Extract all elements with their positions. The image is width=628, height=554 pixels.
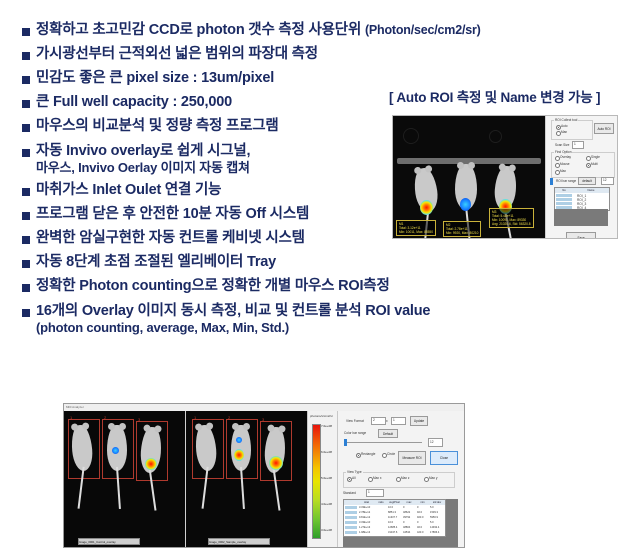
table-cell-min: 423.0 xyxy=(417,531,424,534)
bullet-text: 큰 Full well capacity : 250,000 xyxy=(36,94,232,111)
signal-blob xyxy=(420,200,433,215)
table-header-total: total xyxy=(358,500,376,505)
bullet-subtext: (photon counting, average, Max, Min, Std… xyxy=(36,320,430,335)
radio-view-maxz-label: Max z xyxy=(401,476,410,480)
table-row[interactable] xyxy=(345,511,357,514)
find-option-label: Find Option xyxy=(554,150,572,154)
bullet-square-icon xyxy=(22,100,30,108)
table-header-std: std dev xyxy=(429,500,445,505)
bullet-square-icon xyxy=(22,236,30,244)
table-cell-avg: 8851.3 xyxy=(388,511,396,514)
list-item: 정확하고 초고민감 CCD로 photon 갯수 측정 사용단위 (Photon… xyxy=(22,22,602,39)
table-row[interactable] xyxy=(556,194,572,197)
analysis-control-panel[interactable]: View Format 2 x 1 Update Color bar range… xyxy=(337,411,464,547)
table-cell-avg: 12685.4 xyxy=(388,526,397,529)
pane-label: Image_0001_Control_overlay xyxy=(79,540,116,545)
colorbar-gradient xyxy=(312,424,321,539)
table-cell-avg: 10.0 xyxy=(388,506,393,509)
table-cell-max: 44534 xyxy=(403,531,410,534)
roi-number: 1 xyxy=(70,415,72,420)
roi-number: 1 xyxy=(194,415,196,420)
table-cell-max: 0 xyxy=(403,506,404,509)
bullet-square-icon xyxy=(22,28,30,36)
bullet-subtext: 마우스, Invivo Oerlay 이미지 자동 캡쳐 xyxy=(36,160,250,175)
roi-collect-group-label: ROI Collect tool xyxy=(554,118,578,122)
table-cell-std: 5.0 xyxy=(430,506,434,509)
colorbar-range-label: Color bar range xyxy=(344,431,366,435)
table-cell-min: 0 xyxy=(417,521,418,524)
bullet-text: 가시광선부터 근적외선 넓은 범위의 파장대 측정 xyxy=(36,46,318,63)
table-cell-total: 3.33E+10 xyxy=(359,506,370,509)
bullet-square-icon xyxy=(22,149,30,157)
bullet-square-icon xyxy=(22,76,30,84)
table-cell-std: 17866.4 xyxy=(430,531,439,534)
bullet-text: 민감도 좋은 큰 pixel size : 13um/pixel xyxy=(36,70,274,87)
roi-image-canvas[interactable]: M1 Total: 3.12e+11 Min: 10011, Max: 8555… xyxy=(393,116,545,238)
image-pane[interactable]: 1 2 3 Image_0001_Control_overlay xyxy=(64,411,186,547)
chamber-mark xyxy=(403,128,419,144)
colorbar-tick: 5.0e+08 xyxy=(321,476,332,480)
radio-circle-label: Circle xyxy=(387,452,395,456)
window-title: MDI Analyzer xyxy=(64,404,464,411)
bullet-square-icon xyxy=(22,52,30,60)
radio-rectangle-label: Rectangle xyxy=(361,452,375,456)
table-cell-std: 1539.3 xyxy=(430,511,438,514)
table-cell-min: 923.0 xyxy=(417,516,424,519)
table-cell-std: 5956.9 xyxy=(430,516,438,519)
view-format-rows-value: 1 xyxy=(393,418,395,422)
roi-control-panel[interactable]: ROI Collect tool Auto Man Auto ROI Scan … xyxy=(545,116,617,238)
table-row[interactable] xyxy=(345,531,357,534)
table-header-no: No xyxy=(555,188,574,193)
table-cell-std: 5.0 xyxy=(430,521,434,524)
checkbox-max-label: Max xyxy=(560,169,566,173)
table-cell-avg: 11337.7 xyxy=(388,516,397,519)
view-format-label: View Format xyxy=(346,419,364,423)
scan-size-label: Scan Size xyxy=(555,143,569,147)
list-item: 정확한 Photon counting으로 정확한 개별 마우스 ROI측정 xyxy=(22,278,602,295)
colorbar-range-number-value: 12 xyxy=(430,440,434,444)
table-cell-avg: 31347.6 xyxy=(388,531,397,534)
roi-annotation: M1 Total: 3.12e+11 Min: 10011, Max: 8555… xyxy=(396,220,436,236)
table-row[interactable] xyxy=(345,526,357,529)
roi-number: 3 xyxy=(262,417,264,422)
image-canvas-row[interactable]: 1 2 3 Image_0001_Control_overlay 1 xyxy=(64,411,307,547)
default-button[interactable]: Default xyxy=(378,429,398,438)
bullet-square-icon xyxy=(22,188,30,196)
bullet-text: 자동 Invivo overlay로 쉽게 시그널, xyxy=(36,143,250,159)
roi-preview-area xyxy=(554,209,608,226)
table-cell-max: 48622 xyxy=(403,511,410,514)
table-row[interactable] xyxy=(345,506,357,509)
roi-annotation: M3 Total: 5.48e+11 Min: 10091, Max: 8933… xyxy=(489,208,534,228)
list-item: 자동 8단계 초점 조절된 엘리베이터 Tray xyxy=(22,254,602,271)
signal-blob xyxy=(112,447,119,454)
signal-blob xyxy=(269,456,283,470)
bullet-text: 자동 8단계 초점 조절된 엘리베이터 Tray xyxy=(36,254,276,271)
roi-number: 2 xyxy=(104,415,106,420)
close-button[interactable]: Close xyxy=(430,451,458,465)
bullet-square-icon xyxy=(22,212,30,220)
table-cell-std: 14932.4 xyxy=(430,526,439,529)
table-cell-max: 48804 xyxy=(403,526,410,529)
table-cell-total: 9.81E+12 xyxy=(359,516,370,519)
radio-auto-label: Auto xyxy=(561,124,568,128)
bullet-trailing: (Photon/sec/cm2/sr) xyxy=(365,23,481,37)
table-cell-min: 92.0 xyxy=(417,511,422,514)
checkbox-overlay-label: Overlay xyxy=(560,155,571,159)
bullet-text: 16개의 Overlay 이미지 동시 측정, 비교 및 컨트롤 분석 ROI … xyxy=(36,303,430,319)
radio-view-maxx-label: Max x xyxy=(373,476,382,480)
colorbar-range-slider-thumb[interactable] xyxy=(344,439,347,446)
signal-blob xyxy=(460,198,471,211)
table-row[interactable] xyxy=(556,198,572,201)
colorbar-tick: 4.0e+08 xyxy=(321,502,332,506)
table-header-avg: avg/Pixel xyxy=(387,500,403,505)
roi-range-slider[interactable] xyxy=(550,178,553,185)
table-row[interactable] xyxy=(556,202,572,205)
table-cell-avg: 10.0 xyxy=(388,521,393,524)
checkbox-multi-label: Multi xyxy=(591,162,598,166)
table-cell-max: 39792 xyxy=(403,516,410,519)
update-button[interactable]: Update xyxy=(410,416,428,426)
colorbar-tick: 6.0e+08 xyxy=(321,450,332,454)
checkbox-mouse-label: Mouse xyxy=(560,162,570,166)
roi-number: 3 xyxy=(138,417,140,422)
standard-label: Standard xyxy=(343,491,356,495)
standard-value: 1 xyxy=(368,490,370,494)
bullet-text: 마우스의 비교분석 및 정량 측정 프로그램 xyxy=(36,118,279,135)
table-cell-min: 46.0 xyxy=(417,526,422,529)
radio-view-maxy-label: Max y xyxy=(429,476,438,480)
table-cell-max: 0 xyxy=(403,521,404,524)
pane-label: Image_0002_Sample_overlay xyxy=(209,540,246,545)
bullet-text: 정확한 Photon counting으로 정확한 개별 마우스 ROI측정 xyxy=(36,278,390,295)
list-item: 16개의 Overlay 이미지 동시 측정, 비교 및 컨트롤 분석 ROI … xyxy=(22,303,602,335)
overlay-comparison-screenshot[interactable]: MDI Analyzer 1 2 3 Image_0001_Control_o xyxy=(63,403,465,548)
roi-number: 2 xyxy=(228,415,230,420)
bullet-text: 정확하고 초고민감 CCD로 photon 갯수 측정 사용단위 xyxy=(36,22,361,38)
table-cell-total: 2.78E+12 xyxy=(359,511,370,514)
roi-results-table[interactable]: total ratio avg/Pixel max min std dev 3.… xyxy=(343,499,446,537)
signal-blob xyxy=(145,458,157,470)
radio-man-label: Man xyxy=(561,130,567,134)
table-header-min: min xyxy=(416,500,430,505)
colorbar-title: photons/s/cm2/sr xyxy=(310,414,333,418)
table-cell-total: 1.27E+13 xyxy=(359,526,370,529)
auto-roi-button[interactable]: Auto ROI xyxy=(594,123,614,134)
bullet-text: 마취가스 Inlet Oulet 연결 기능 xyxy=(36,182,221,199)
signal-blob xyxy=(234,449,244,461)
list-item: 가시광선부터 근적외선 넓은 범위의 파장대 측정 xyxy=(22,46,602,63)
bullet-square-icon xyxy=(22,284,30,292)
bullet-text: 프로그램 닫은 후 안전한 10분 자동 Off 시스템 xyxy=(36,206,309,223)
roi-range-number-value: 12 xyxy=(603,178,607,182)
bullet-square-icon xyxy=(22,124,30,132)
colorbar-range-slider-track[interactable] xyxy=(344,442,422,443)
bullet-square-icon xyxy=(22,260,30,268)
table-header-blank xyxy=(344,500,359,505)
colorbar-tick: 7.0e+08 xyxy=(321,424,332,428)
list-item: 민감도 좋은 큰 pixel size : 13um/pixel xyxy=(22,70,602,87)
roi-annotation: M2 Total: 2.78e+11 Min: 9920, Max: 80210 xyxy=(443,221,481,237)
view-format-x-label: x xyxy=(386,419,388,423)
table-header-max: max xyxy=(402,500,417,505)
roi-range-label: ROI bar range xyxy=(556,179,576,183)
radio-view-all-label: All xyxy=(352,476,356,480)
table-header-name: Name xyxy=(573,188,609,193)
view-format-cols-value: 2 xyxy=(373,418,375,422)
colorbar-tick: 3.0e+08 xyxy=(321,528,332,532)
auto-roi-caption: [ Auto ROI 측정 및 Name 변경 가능 ] xyxy=(389,86,600,106)
save-button[interactable]: Save xyxy=(566,232,596,239)
table-cell-min: 0 xyxy=(417,506,418,509)
chamber-mark xyxy=(489,130,502,143)
colorbar-legend: photons/s/cm2/sr 7.0e+08 6.0e+08 5.0e+08… xyxy=(307,411,338,547)
bullet-text: 완벽한 암실구현한 자동 컨트롤 케비넷 시스템 xyxy=(36,230,305,247)
table-row[interactable] xyxy=(345,516,357,519)
mouse-subject xyxy=(231,425,251,471)
scan-size-value: 1 xyxy=(574,142,576,146)
checkbox-single-label: Single xyxy=(591,155,600,159)
roi-name-table[interactable]: No Name ROI_1 ROI_2 ROI_3 ROI_4 xyxy=(554,187,610,211)
table-row[interactable] xyxy=(345,521,357,524)
view-type-label: View Type xyxy=(346,470,363,474)
table-cell-total: 3.33E+10 xyxy=(359,521,370,524)
bullet-square-icon xyxy=(22,309,30,317)
roi-collect-group xyxy=(551,120,593,140)
auto-roi-measurement-screenshot[interactable]: M1 Total: 3.12e+11 Min: 10011, Max: 8555… xyxy=(392,115,618,239)
roi-range-default-button[interactable]: default xyxy=(578,177,596,185)
table-cell-total: 1.98E+13 xyxy=(359,531,370,534)
measure-roi-button[interactable]: Measure ROI xyxy=(398,451,426,465)
signal-blob xyxy=(236,437,242,443)
image-pane[interactable]: 1 2 3 Image_0002_Sample_overlay xyxy=(186,411,307,547)
